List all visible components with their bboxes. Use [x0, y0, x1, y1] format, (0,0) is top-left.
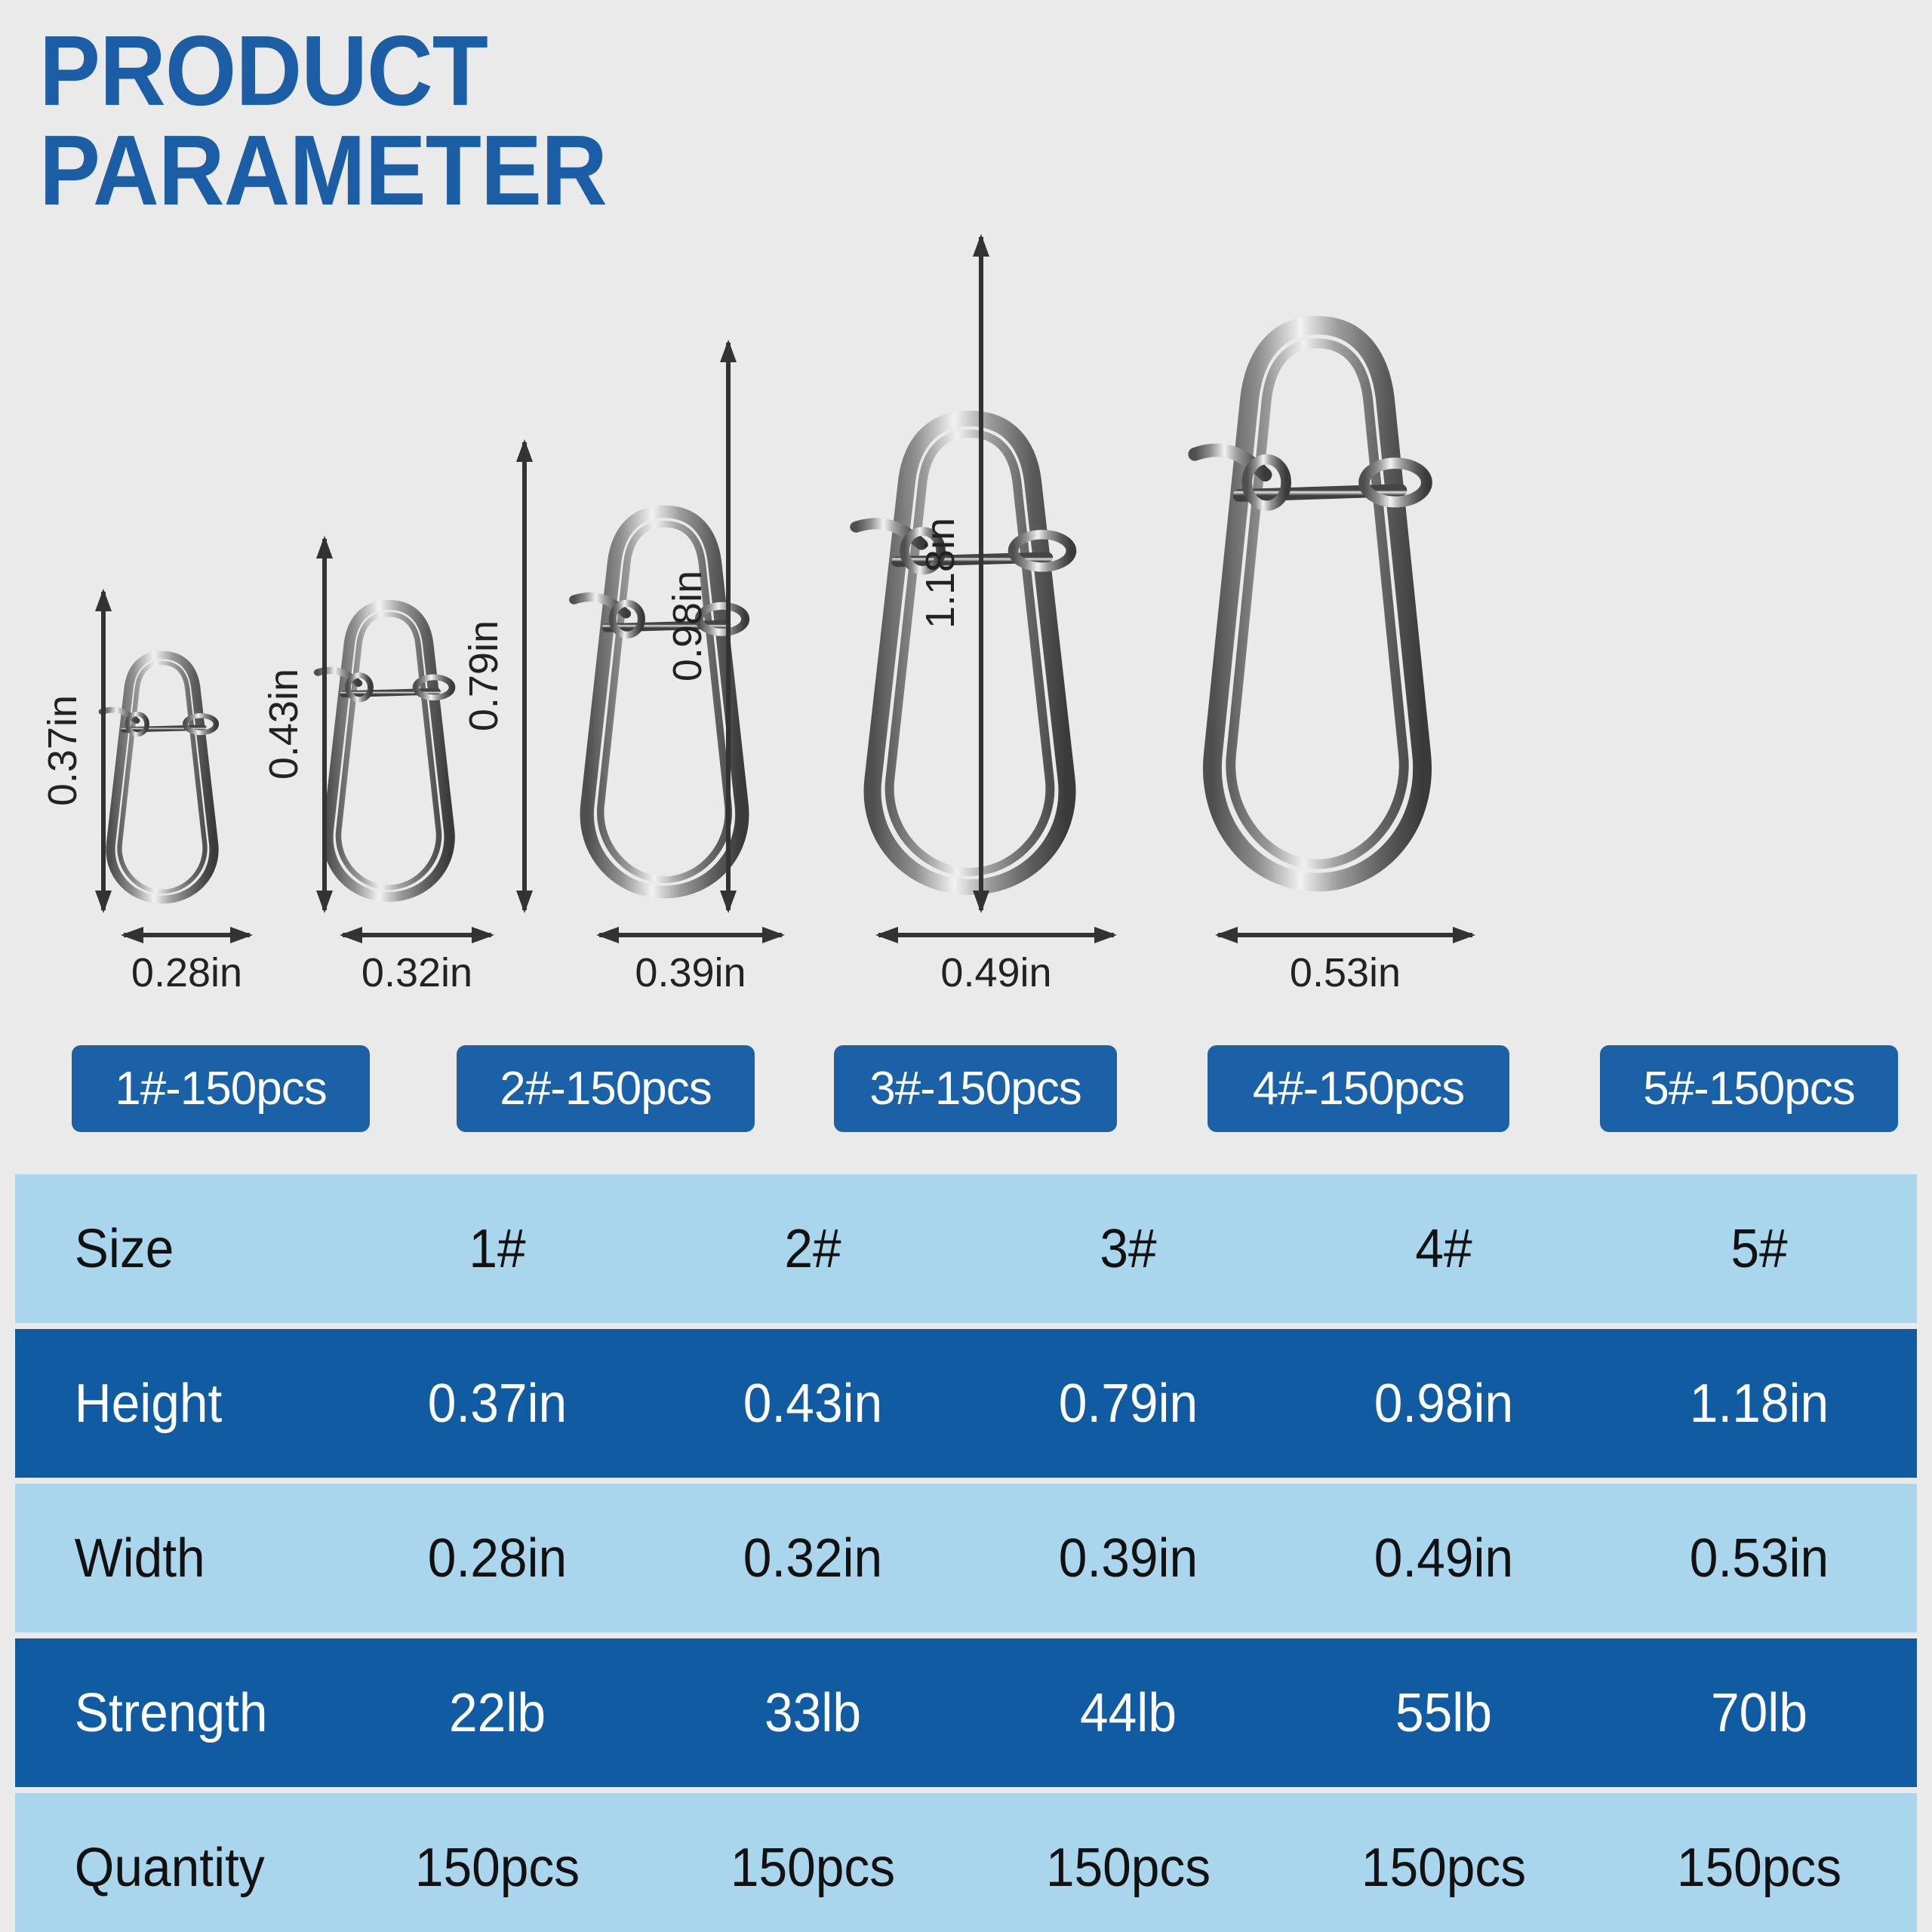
size-badge-1[interactable]: 1#-150pcs [72, 1045, 370, 1132]
table-cell: 0.53in [1611, 1527, 1908, 1589]
width-dimension-label: 0.49in [875, 949, 1117, 996]
vertical-dimension-arrow [718, 340, 738, 913]
size-badge-2[interactable]: 2#-150pcs [457, 1045, 755, 1132]
clip-inner-wire [338, 614, 438, 888]
table-row: Width0.28in0.32in0.39in0.49in0.53in [15, 1484, 1917, 1632]
snap-clip-illustration [98, 641, 226, 913]
table-cell: 1.18in [1611, 1373, 1908, 1435]
snap-clip-illustration [1187, 294, 1447, 913]
table-cell: 150pcs [665, 1837, 961, 1899]
table-cell: 0.43in [665, 1373, 961, 1435]
row-header-height: Height [25, 1373, 330, 1435]
vertical-dimension-arrow [515, 439, 534, 913]
table-cell: 0.98in [1296, 1373, 1592, 1435]
table-row: Strength22lb33lb44lb55lb70lb [15, 1638, 1917, 1787]
size-badge-5[interactable]: 5#-150pcs [1600, 1045, 1898, 1132]
width-dimension-3: 0.39in [596, 925, 785, 996]
horizontal-dimension-arrow [1215, 925, 1475, 945]
table-cell: 0.32in [665, 1527, 961, 1589]
product-image-1 [98, 641, 226, 913]
clip-inner-wire [119, 663, 205, 892]
width-dimension-label: 0.28in [121, 949, 253, 996]
table-cell: 150pcs [1296, 1837, 1592, 1899]
table-cell: 150pcs [980, 1837, 1277, 1899]
table-cell: 44lb [980, 1682, 1277, 1744]
width-dimension-label: 0.39in [596, 949, 785, 996]
row-header-size: Size [25, 1218, 330, 1280]
horizontal-dimension-arrow [121, 925, 253, 945]
table-cell: 22lb [349, 1682, 646, 1744]
width-dimension-4: 0.49in [875, 925, 1117, 996]
table-row: Height0.37in0.43in0.79in0.98in1.18in [15, 1329, 1917, 1478]
width-dimension-5: 0.53in [1215, 925, 1475, 996]
table-cell: 150pcs [1611, 1837, 1908, 1899]
height-dimension-label: 0.98in [664, 571, 711, 681]
clip-inner-wire [1230, 343, 1403, 864]
height-dimension-3: 0.79in [460, 439, 534, 913]
table-cell: 2# [665, 1218, 961, 1280]
width-dimension-label: 0.53in [1215, 949, 1475, 996]
specification-table: Size1#2#3#4#5#Height0.37in0.43in0.79in0.… [15, 1174, 1917, 1932]
table-cell: 0.79in [980, 1373, 1277, 1435]
horizontal-dimension-arrow [340, 925, 494, 945]
row-header-strength: Strength [25, 1682, 330, 1744]
table-cell: 0.28in [349, 1527, 646, 1589]
table-cell: 0.39in [980, 1527, 1277, 1589]
size-badge-row: 1#-150pcs2#-150pcs3#-150pcs4#-150pcs5#-1… [0, 1045, 1932, 1136]
width-dimension-1: 0.28in [121, 925, 253, 996]
height-dimension-label: 0.43in [260, 669, 307, 780]
horizontal-dimension-arrow [875, 925, 1117, 945]
product-image-5 [1187, 294, 1447, 913]
table-cell: 55lb [1296, 1682, 1592, 1744]
height-dimension-label: 1.18in [917, 518, 964, 629]
horizontal-dimension-arrow [596, 925, 785, 945]
vertical-dimension-arrow [315, 536, 334, 913]
row-header-width: Width [25, 1527, 330, 1589]
table-cell: 0.37in [349, 1373, 646, 1435]
table-cell: 0.49in [1296, 1527, 1592, 1589]
size-badge-4[interactable]: 4#-150pcs [1207, 1045, 1509, 1132]
snap-clip-illustration [313, 589, 464, 913]
size-badge-3[interactable]: 3#-150pcs [834, 1045, 1117, 1132]
height-dimension-4: 0.98in [664, 340, 738, 913]
height-dimension-label: 0.79in [460, 620, 507, 731]
table-cell: 4# [1296, 1218, 1592, 1280]
row-header-quantity: Quantity [25, 1837, 330, 1899]
vertical-dimension-arrow [94, 589, 113, 913]
product-image-2 [313, 589, 464, 913]
table-cell: 3# [980, 1218, 1277, 1280]
height-dimension-5: 1.18in [917, 234, 991, 913]
table-cell: 1# [349, 1218, 646, 1280]
height-dimension-2: 0.43in [260, 536, 334, 913]
table-cell: 5# [1611, 1218, 1908, 1280]
table-row: Quantity150pcs150pcs150pcs150pcs150pcs [15, 1793, 1917, 1932]
table-cell: 33lb [665, 1682, 961, 1744]
product-parameter-infographic: PRODUCT PARAMETER [0, 0, 1932, 1932]
height-dimension-1: 0.37in [39, 589, 113, 913]
product-showcase: 0.37in 0.28in [0, 121, 1932, 1026]
table-row: Size1#2#3#4#5# [15, 1174, 1917, 1323]
width-dimension-2: 0.32in [340, 925, 494, 996]
table-cell: 70lb [1611, 1682, 1908, 1744]
height-dimension-label: 0.37in [39, 695, 86, 806]
table-cell: 150pcs [349, 1837, 646, 1899]
width-dimension-label: 0.32in [340, 949, 494, 996]
vertical-dimension-arrow [971, 234, 991, 913]
